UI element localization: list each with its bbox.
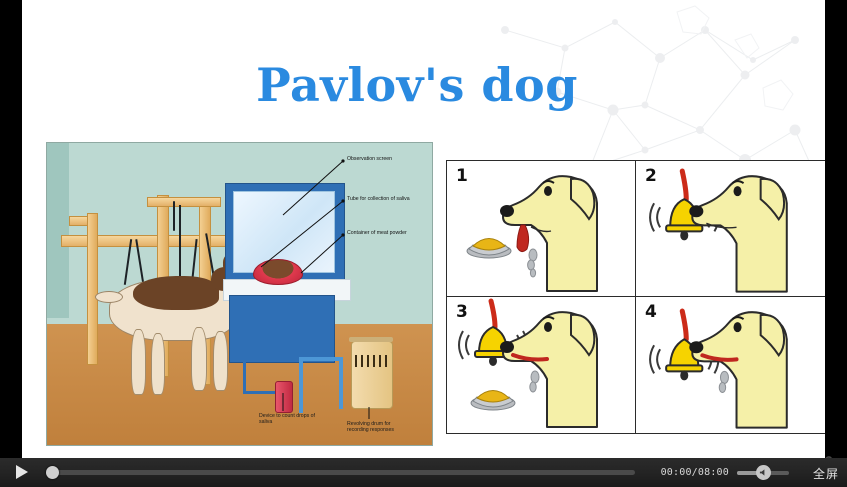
page-title: Pavlov's dog: [22, 58, 812, 112]
speaker-icon: [759, 468, 768, 477]
video-player: Pavlov's dog: [0, 0, 847, 487]
panel-1-illustration: [447, 161, 635, 295]
player-control-bar: 00:00/08:00 全屏: [0, 458, 847, 487]
seek-bar[interactable]: [46, 470, 635, 475]
dog-head-salivating: [500, 176, 597, 291]
label-drop-counter: Device to count drops of saliva: [259, 413, 321, 426]
food-bowl-icon: [467, 239, 511, 259]
fullscreen-button[interactable]: 全屏: [813, 465, 839, 482]
saliva-drip: [528, 249, 537, 277]
saliva-drip: [530, 371, 539, 392]
saliva-drip: [719, 371, 728, 392]
panel-3: 3: [447, 297, 636, 433]
panel-2-illustration: [636, 161, 825, 296]
dog-head-salivating: [689, 312, 787, 427]
panel-3-illustration: [447, 297, 635, 431]
label-observation-screen: Observation screen: [347, 156, 409, 162]
dog-head-salivating: [500, 312, 597, 427]
label-meat-powder-container: Container of meat powder: [347, 230, 411, 236]
panel-4: 4: [636, 297, 825, 433]
panel-4-illustration: [636, 297, 825, 432]
seek-bar-handle[interactable]: [46, 466, 59, 479]
food-bowl-icon: [471, 391, 515, 411]
panel-2: 2: [636, 161, 825, 297]
sound-waves-left: [650, 203, 660, 231]
panel-1: 1: [447, 161, 636, 297]
label-saliva-tube: Tube for collection of saliva: [347, 196, 413, 202]
conditioning-panel-grid: 1: [446, 160, 825, 434]
slide-stage: Pavlov's dog: [22, 0, 825, 460]
pavlov-apparatus-illustration: Observation screen Tube for collection o…: [46, 142, 433, 446]
sound-waves-left: [650, 345, 660, 373]
label-revolving-drum: Revolving drum for recording responses: [347, 421, 407, 434]
apparatus-leader-lines: [47, 143, 432, 445]
play-button[interactable]: [16, 465, 28, 479]
volume-icon[interactable]: [756, 465, 771, 480]
sound-waves-left: [459, 331, 469, 359]
dog-head-no-saliva: [689, 176, 787, 291]
time-display: 00:00/08:00: [661, 467, 729, 478]
